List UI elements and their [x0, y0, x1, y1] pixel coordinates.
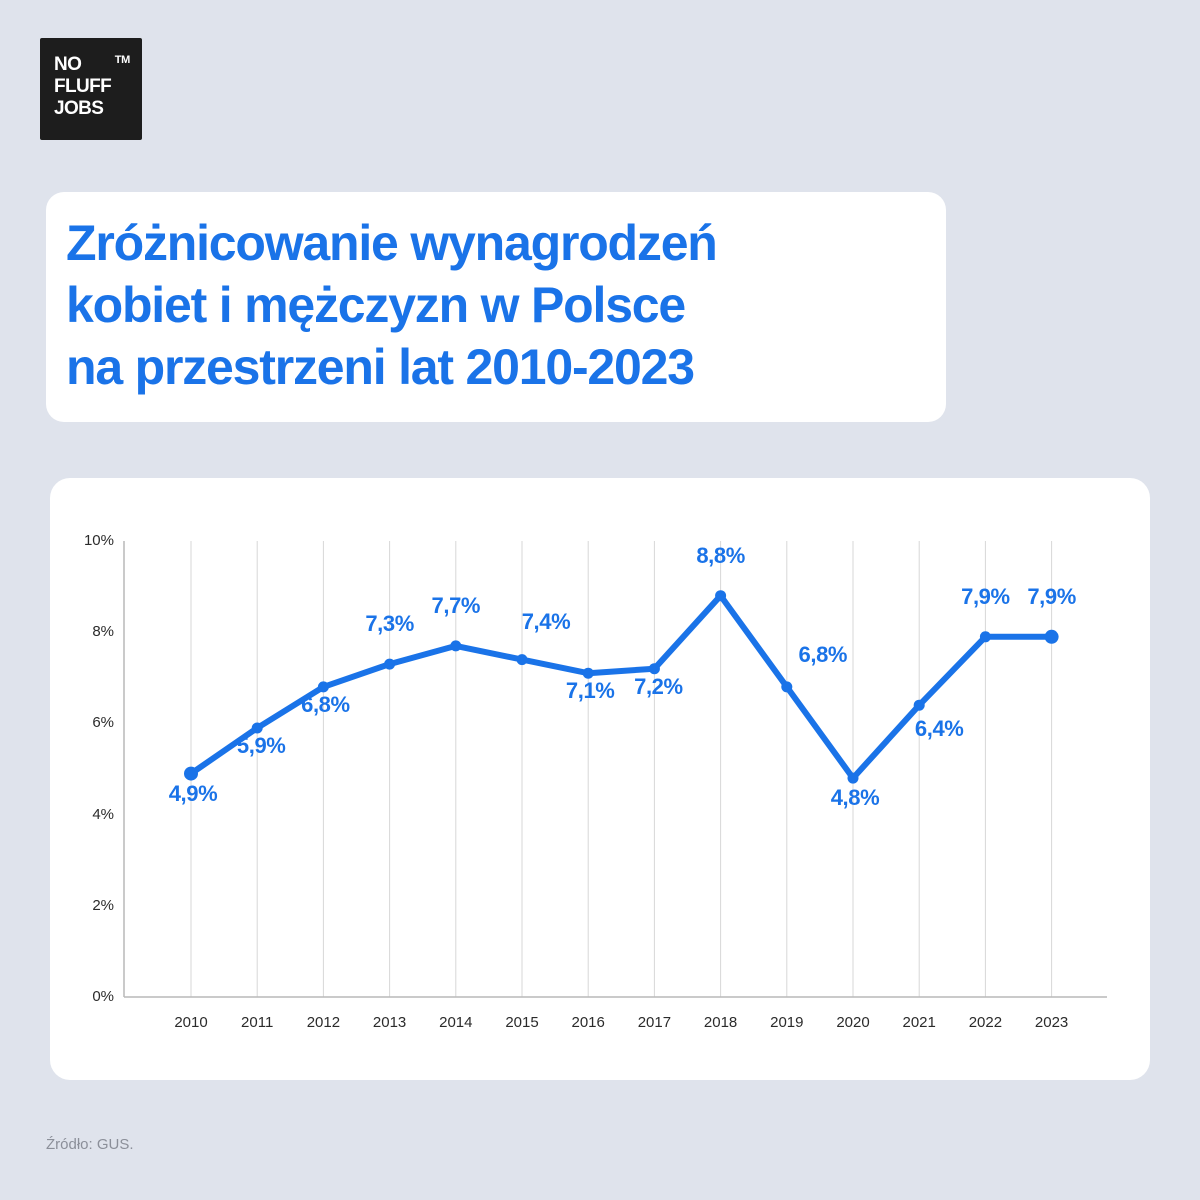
data-point-2023	[1045, 630, 1059, 644]
chart-canvas	[50, 478, 1150, 1080]
data-point-2012	[318, 681, 329, 692]
data-point-2017	[649, 663, 660, 674]
x-tick-2011: 2011	[227, 1014, 287, 1031]
data-point-2016	[583, 668, 594, 679]
data-label-2012: 6,8%	[288, 692, 362, 718]
data-label-2010: 4,9%	[156, 781, 230, 807]
data-point-2019	[781, 681, 792, 692]
data-point-2020	[848, 773, 859, 784]
page-title-line-1: Zróżnicowanie wynagrodzeń	[66, 212, 920, 274]
x-tick-2015: 2015	[492, 1014, 552, 1031]
data-label-2023: 7,9%	[1015, 584, 1089, 610]
logo-line-3: JOBS	[54, 98, 142, 120]
x-tick-2017: 2017	[624, 1014, 684, 1031]
y-tick-6%: 6%	[58, 714, 114, 731]
data-point-2014	[450, 640, 461, 651]
x-tick-2014: 2014	[426, 1014, 486, 1031]
data-point-2021	[914, 700, 925, 711]
logo-line-2: FLUFF	[54, 76, 142, 98]
x-tick-2019: 2019	[757, 1014, 817, 1031]
data-label-2015: 7,4%	[509, 609, 583, 635]
x-tick-2012: 2012	[293, 1014, 353, 1031]
data-point-2022	[980, 631, 991, 642]
data-point-2015	[517, 654, 528, 665]
page-title-line-3: na przestrzeni lat 2010-2023	[66, 336, 920, 398]
data-label-2021: 6,4%	[902, 716, 976, 742]
data-label-2018: 8,8%	[684, 543, 758, 569]
x-tick-2010: 2010	[161, 1014, 221, 1031]
data-label-2019: 6,8%	[786, 642, 860, 668]
data-point-2010	[184, 767, 198, 781]
y-tick-2%: 2%	[58, 897, 114, 914]
source-note: Źródło: GUS.	[46, 1136, 134, 1153]
trademark-symbol: TM	[115, 54, 130, 66]
y-tick-4%: 4%	[58, 806, 114, 823]
title-card: Zróżnicowanie wynagrodzeń kobiet i mężcz…	[46, 192, 946, 422]
data-label-2017: 7,2%	[621, 674, 695, 700]
line-chart: 0%2%4%6%8%10% 20102011201220132014201520…	[50, 478, 1150, 1080]
data-point-2018	[715, 590, 726, 601]
data-label-2011: 5,9%	[224, 733, 298, 759]
x-tick-2016: 2016	[558, 1014, 618, 1031]
brand-logo: NO FLUFF JOBS TM	[40, 38, 142, 140]
x-tick-2022: 2022	[955, 1014, 1015, 1031]
data-label-2013: 7,3%	[353, 611, 427, 637]
chart-card: 0%2%4%6%8%10% 20102011201220132014201520…	[50, 478, 1150, 1080]
y-tick-0%: 0%	[58, 988, 114, 1005]
y-tick-8%: 8%	[58, 623, 114, 640]
data-label-2020: 4,8%	[818, 785, 892, 811]
x-tick-2013: 2013	[360, 1014, 420, 1031]
data-label-2022: 7,9%	[948, 584, 1022, 610]
data-point-2011	[252, 723, 263, 734]
chart-gridlines	[191, 541, 1052, 997]
page-title-line-2: kobiet i mężczyzn w Polsce	[66, 274, 920, 336]
data-point-2013	[384, 659, 395, 670]
x-tick-2020: 2020	[823, 1014, 883, 1031]
y-tick-10%: 10%	[58, 532, 114, 549]
x-tick-2023: 2023	[1022, 1014, 1082, 1031]
data-label-2014: 7,7%	[419, 593, 493, 619]
x-tick-2021: 2021	[889, 1014, 949, 1031]
x-tick-2018: 2018	[691, 1014, 751, 1031]
data-label-2016: 7,1%	[553, 678, 627, 704]
